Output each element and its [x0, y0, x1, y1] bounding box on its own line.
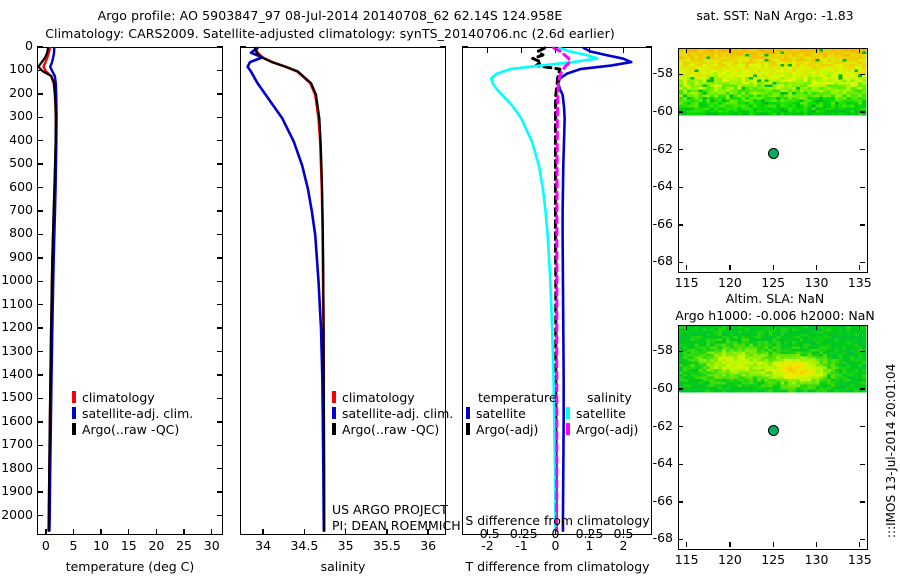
project-credit: US ARGO PROJECT PI: DEAN ROEMMICH [332, 502, 461, 534]
depth-tick [217, 468, 223, 469]
depth-tick [37, 257, 43, 258]
depth-tick [37, 374, 43, 375]
page-title-line2: Climatology: CARS2009. Satellite-adjuste… [0, 26, 660, 41]
map-lat-tick [678, 426, 683, 427]
map-lat-tick [860, 187, 865, 188]
depth-tick [37, 468, 43, 469]
depth-tick [217, 327, 223, 328]
depth-tick [217, 491, 223, 492]
depth-tick [217, 304, 223, 305]
depth-tick-label: 400 [0, 134, 33, 147]
map-lon-tick [859, 48, 860, 53]
depth-tick [37, 327, 43, 328]
map-lat-tick [678, 149, 683, 150]
legend-item: satellite-adj. clim. [72, 406, 193, 422]
map-lon-tick [816, 542, 817, 547]
legend-swatch-temp-satellite [466, 407, 470, 419]
depth-tick [217, 257, 223, 258]
depth-tick [217, 351, 223, 352]
map-lon-tick [686, 265, 687, 270]
sla-map-title-line2: Argo h1000: -0.006 h2000: NaN [640, 308, 900, 323]
legend-swatch-sal-argo-adj [566, 423, 570, 435]
temperature-axis-label: temperature (deg C) [37, 559, 223, 574]
map-lat-tick [860, 351, 865, 352]
depth-tick [217, 281, 223, 282]
depth-tick-label: 0 [0, 40, 33, 53]
map-lon-tick [729, 48, 730, 53]
map-lat-tick-label: -64 [638, 180, 673, 193]
map-lat-tick [678, 262, 683, 263]
axis-tick [521, 47, 522, 53]
map-lon-tick [729, 542, 730, 547]
depth-tick [37, 304, 43, 305]
legend-item: satellite [566, 406, 638, 422]
legend-item: climatology [72, 390, 193, 406]
legend-item: Argo(..raw -QC) [332, 422, 453, 438]
depth-tick-label: 1000 [0, 274, 33, 287]
legend-label: climatology [82, 390, 155, 405]
legend-label: satellite-adj. clim. [82, 406, 193, 421]
map-lat-tick [860, 224, 865, 225]
depth-tick [37, 140, 43, 141]
legend-swatch-climatology [332, 391, 336, 403]
difference-legend-temperature-heading: temperature [478, 390, 557, 405]
map-lat-tick [860, 464, 865, 465]
map-lat-tick [860, 111, 865, 112]
depth-tick-label: 200 [0, 87, 33, 100]
depth-tick [37, 70, 43, 71]
map-lon-tick [816, 265, 817, 270]
axis-tick [128, 529, 129, 535]
depth-tick-label: 1400 [0, 368, 33, 381]
map-lat-tick [860, 388, 865, 389]
axis-tick [304, 529, 305, 535]
salinity-panel [240, 47, 446, 535]
map-lat-tick [860, 149, 865, 150]
depth-tick [37, 187, 43, 188]
map-lat-tick [678, 539, 683, 540]
depth-tick [37, 491, 43, 492]
depth-tick [217, 163, 223, 164]
legend-label: Argo(..raw -QC) [342, 422, 439, 437]
salinity-plot [241, 48, 444, 533]
legend-item: climatology [332, 390, 453, 406]
depth-tick-label: 600 [0, 181, 33, 194]
depth-tick-label: 300 [0, 110, 33, 123]
legend-item: Argo(-adj) [466, 422, 538, 438]
map-lat-tick [860, 426, 865, 427]
legend-item: satellite [466, 406, 538, 422]
depth-tick-label: 2000 [0, 509, 33, 522]
depth-tick-label: 1700 [0, 438, 33, 451]
axis-tick [623, 47, 624, 53]
depth-tick [217, 445, 223, 446]
axis-tick [156, 529, 157, 535]
legend-label: satellite [476, 406, 526, 421]
axis-tick [211, 529, 212, 535]
map-lat-tick [678, 187, 683, 188]
depth-tick [217, 234, 223, 235]
depth-tick [37, 515, 43, 516]
map-lon-tick [773, 265, 774, 270]
difference-legend-salinity-heading: salinity [587, 390, 632, 405]
map-lon-tick [729, 265, 730, 270]
map-lat-tick-label: -58 [638, 67, 673, 80]
map-lat-tick [860, 262, 865, 263]
map-lon-tick [816, 48, 817, 53]
axis-tick [555, 47, 556, 53]
depth-tick [37, 210, 43, 211]
depth-tick [217, 187, 223, 188]
depth-tick-label: 1600 [0, 415, 33, 428]
depth-tick-label: 1800 [0, 462, 33, 475]
axis-tick [262, 529, 263, 535]
sla-map-raster [679, 326, 866, 548]
depth-tick [37, 163, 43, 164]
sst-map-title: sat. SST: NaN Argo: -1.83 [655, 8, 895, 23]
depth-tick [37, 46, 43, 47]
difference-bottom-axis-label: T difference from climatology [455, 559, 660, 574]
depth-tick [37, 445, 43, 446]
depth-tick-label: 1900 [0, 485, 33, 498]
depth-tick-label: 900 [0, 251, 33, 264]
imos-watermark: :::IMOS 13-Jul-2014 20:01:04 [884, 364, 898, 538]
depth-tick [217, 140, 223, 141]
map-lat-tick-label: -66 [638, 495, 673, 508]
temperature-plot [38, 48, 221, 533]
depth-tick [37, 281, 43, 282]
map-lat-tick-label: -60 [638, 105, 673, 118]
difference-plot [463, 48, 650, 533]
depth-tick [217, 398, 223, 399]
depth-tick [37, 421, 43, 422]
map-lon-tick [686, 542, 687, 547]
map-lat-tick-label: -66 [638, 218, 673, 231]
map-lon-tick [686, 325, 687, 330]
map-lat-tick-label: -58 [638, 344, 673, 357]
depth-tick [37, 351, 43, 352]
depth-tick [217, 117, 223, 118]
credit-line1: US ARGO PROJECT [332, 502, 461, 518]
map-lat-tick-label: -68 [638, 532, 673, 545]
axis-tick [487, 47, 488, 53]
depth-tick [217, 210, 223, 211]
difference-top-axis-label: S difference from climatology [455, 513, 660, 528]
map-lon-tick [859, 325, 860, 330]
depth-tick-label: 1500 [0, 391, 33, 404]
depth-tick-label: 800 [0, 227, 33, 240]
legend-swatch-sal-satellite [566, 407, 570, 419]
map-lon-tick [773, 48, 774, 53]
map-lat-tick [678, 224, 683, 225]
legend-label: satellite [576, 406, 626, 421]
map-lon-tick [859, 542, 860, 547]
legend-label: Argo(-adj) [576, 422, 638, 437]
map-lon-tick-label: 135 [830, 277, 890, 290]
legend-label: satellite-adj. clim. [342, 406, 453, 421]
map-lon-tick [729, 325, 730, 330]
map-lon-tick [859, 265, 860, 270]
map-lat-tick-label: -62 [638, 143, 673, 156]
legend-item: Argo(-adj) [566, 422, 638, 438]
map-lat-tick [860, 501, 865, 502]
axis-tick-label: 36 [398, 540, 458, 553]
depth-tick-label: 700 [0, 204, 33, 217]
legend-label: climatology [342, 390, 415, 405]
axis-tick [100, 529, 101, 535]
sst-map-raster [679, 49, 866, 271]
map-lat-tick [678, 74, 683, 75]
depth-tick-label: 500 [0, 157, 33, 170]
depth-tick-label: 100 [0, 63, 33, 76]
axis-tick [183, 529, 184, 535]
axis-tick [45, 529, 46, 535]
depth-tick [217, 93, 223, 94]
map-lat-tick-label: -62 [638, 420, 673, 433]
depth-tick-label: 1100 [0, 298, 33, 311]
axis-tick [73, 529, 74, 535]
map-lat-tick [678, 501, 683, 502]
legend-item: Argo(..raw -QC) [72, 422, 193, 438]
depth-tick [37, 234, 43, 235]
legend-swatch-satellite-adj [72, 407, 76, 419]
depth-tick [37, 93, 43, 94]
map-lat-tick [678, 111, 683, 112]
map-lon-tick [816, 325, 817, 330]
legend-swatch-satellite-adj [332, 407, 336, 419]
depth-tick-label: 1200 [0, 321, 33, 334]
temperature-panel [37, 47, 223, 535]
map-lat-tick [678, 464, 683, 465]
legend-label: Argo(..raw -QC) [82, 422, 179, 437]
salinity-legend: climatology satellite-adj. clim. Argo(..… [332, 390, 453, 438]
map-lat-tick-label: -68 [638, 255, 673, 268]
sst-map-panel [678, 48, 868, 273]
difference-panel [462, 47, 652, 535]
map-lon-tick [773, 325, 774, 330]
depth-tick [217, 421, 223, 422]
map-lon-tick-label: 135 [830, 554, 890, 567]
map-lat-tick [678, 388, 683, 389]
salinity-axis-label: salinity [240, 559, 446, 574]
map-lat-tick-label: -64 [638, 457, 673, 470]
legend-label: Argo(-adj) [476, 422, 538, 437]
depth-tick [217, 70, 223, 71]
sla-map-panel [678, 325, 868, 550]
depth-tick-label: 1300 [0, 345, 33, 358]
legend-item: satellite-adj. clim. [332, 406, 453, 422]
depth-tick [37, 117, 43, 118]
depth-tick [217, 515, 223, 516]
map-lat-tick-label: -60 [638, 382, 673, 395]
depth-tick [37, 398, 43, 399]
sla-map-title-line1: Altim. SLA: NaN [655, 291, 895, 306]
credit-line2: PI: DEAN ROEMMICH [332, 518, 461, 534]
temperature-legend: climatology satellite-adj. clim. Argo(..… [72, 390, 193, 438]
depth-tick [217, 374, 223, 375]
difference-legend-temperature: satellite Argo(-adj) [466, 406, 538, 438]
map-lat-tick [678, 351, 683, 352]
map-lat-tick [860, 74, 865, 75]
legend-swatch-climatology [72, 391, 76, 403]
difference-legend-salinity: satellite Argo(-adj) [566, 406, 638, 438]
page-title-line1: Argo profile: AO 5903847_97 08-Jul-2014 … [0, 8, 660, 23]
map-lon-tick [686, 48, 687, 53]
map-lat-tick [860, 539, 865, 540]
depth-tick [217, 46, 223, 47]
legend-swatch-temp-argo-adj [466, 423, 470, 435]
map-lon-tick [773, 542, 774, 547]
legend-swatch-argo [72, 423, 76, 435]
axis-tick [589, 47, 590, 53]
legend-swatch-argo [332, 423, 336, 435]
